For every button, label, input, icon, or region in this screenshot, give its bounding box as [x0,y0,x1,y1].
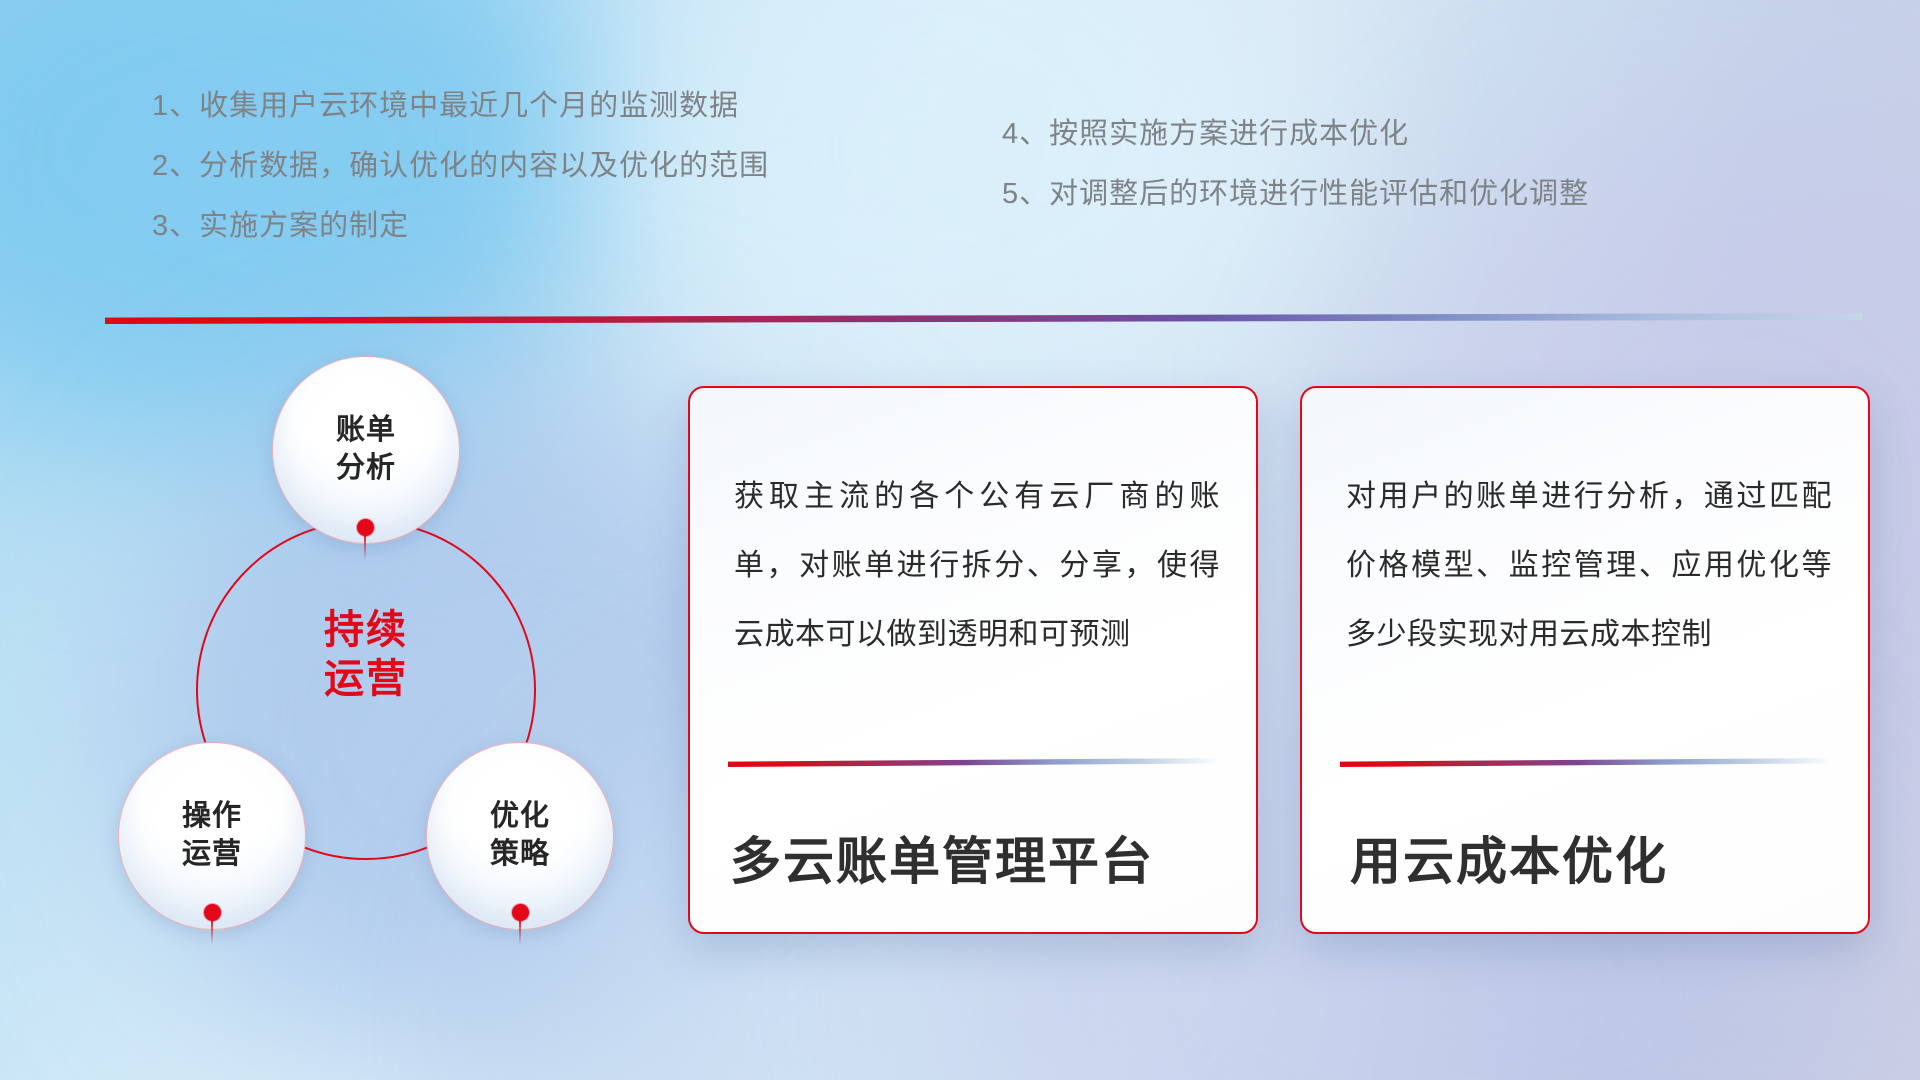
section-divider [105,313,1862,324]
venn-node-br-line-1: 优化 [490,798,550,836]
card-multi-cloud-billing-body: 获取主流的各个公有云厂商的账单，对账单进行拆分、分享，使得云成本可以做到透明和可… [734,462,1220,669]
card-multi-cloud-billing-accent-rule [728,758,1220,767]
venn-diagram: 持续 运营 账单 分析 操作 运营 优化 策略 [96,350,656,950]
process-steps-list: 1、收集用户云环境中最近几个月的监测数据 2、分析数据，确认优化的内容以及优化的… [0,92,1920,252]
venn-dot-top [357,519,374,536]
venn-center-label: 持续 运营 [281,606,451,704]
venn-connector-tail-bottom-right [519,919,521,945]
process-step-3: 3、实施方案的制定 [152,212,769,241]
process-steps-right-column: 4、按照实施方案进行成本优化 5、对调整后的环境进行性能评估和优化调整 [1002,120,1589,240]
venn-node-top-line-2: 分析 [336,450,396,488]
process-step-5: 5、对调整后的环境进行性能评估和优化调整 [1002,180,1589,209]
process-steps-left-column: 1、收集用户云环境中最近几个月的监测数据 2、分析数据，确认优化的内容以及优化的… [152,92,769,272]
venn-node-optimization-strategy[interactable]: 优化 策略 [426,742,614,930]
card-multi-cloud-billing[interactable]: 获取主流的各个公有云厂商的账单，对账单进行拆分、分享，使得云成本可以做到透明和可… [688,386,1258,934]
process-step-1: 1、收集用户云环境中最近几个月的监测数据 [152,92,769,121]
card-multi-cloud-billing-title: 多云账单管理平台 [730,820,1236,894]
venn-node-billing-analysis[interactable]: 账单 分析 [272,356,460,544]
venn-connector-tail-bottom-left [211,919,213,945]
venn-node-bl-line-1: 操作 [182,798,242,836]
venn-node-operations[interactable]: 操作 运营 [118,742,306,930]
card-cloud-cost-optimization[interactable]: 对用户的账单进行分析，通过匹配价格模型、监控管理、应用优化等多少段实现对用云成本… [1300,386,1870,934]
venn-center-line-1: 持续 [281,606,451,655]
card-cloud-cost-optimization-title: 用云成本优化 [1350,820,1848,894]
section-divider-bar [105,313,1862,324]
card-cloud-cost-optimization-accent-rule [1340,758,1832,767]
venn-center-line-2: 运营 [281,655,451,704]
card-cloud-cost-optimization-body: 对用户的账单进行分析，通过匹配价格模型、监控管理、应用优化等多少段实现对用云成本… [1346,462,1832,669]
venn-node-br-line-2: 策略 [490,836,550,874]
venn-dot-bottom-right [512,904,529,921]
venn-connector-tail-top [364,534,366,560]
process-step-2: 2、分析数据，确认优化的内容以及优化的范围 [152,152,769,181]
venn-dot-bottom-left [204,904,221,921]
venn-node-top-line-1: 账单 [336,412,396,450]
venn-node-bl-line-2: 运营 [182,836,242,874]
process-step-4: 4、按照实施方案进行成本优化 [1002,120,1589,149]
